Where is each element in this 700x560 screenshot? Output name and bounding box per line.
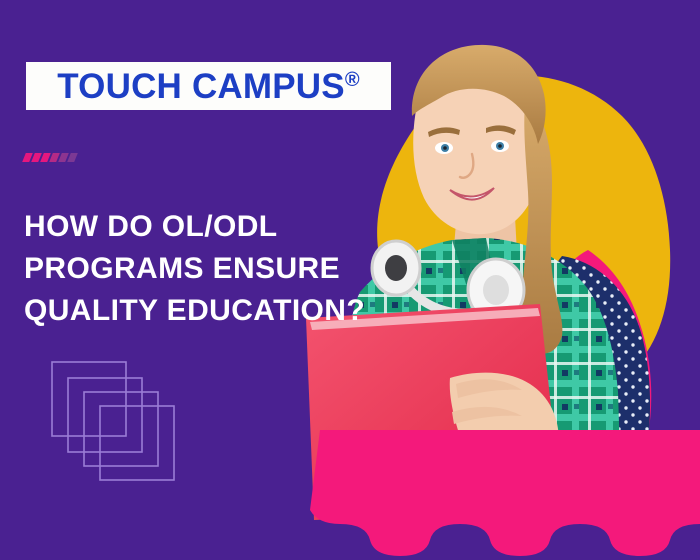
overlapping-squares-motif <box>48 358 193 488</box>
square-4 <box>100 406 174 480</box>
brand-logo[interactable]: TOUCH CAMPUS® <box>26 62 391 110</box>
headline-line-1: HOW DO OL/ODL <box>24 206 399 248</box>
dash-6 <box>67 153 78 162</box>
slanted-dash-accent <box>24 150 84 164</box>
headline: HOW DO OL/ODL PROGRAMS ENSURE QUALITY ED… <box>24 206 399 332</box>
square-3 <box>84 392 158 466</box>
headline-line-3: QUALITY EDUCATION? <box>24 290 399 332</box>
brand-name: TOUCH CAMPUS <box>57 69 345 104</box>
square-2 <box>68 378 142 452</box>
square-1 <box>52 362 126 436</box>
registered-trademark-icon: ® <box>345 70 360 90</box>
promo-banner: TOUCH CAMPUS® HOW DO OL/ODL PROGRAMS ENS… <box>0 0 700 560</box>
headline-line-2: PROGRAMS ENSURE <box>24 248 399 290</box>
brand-logo-text: TOUCH CAMPUS® <box>57 69 360 104</box>
